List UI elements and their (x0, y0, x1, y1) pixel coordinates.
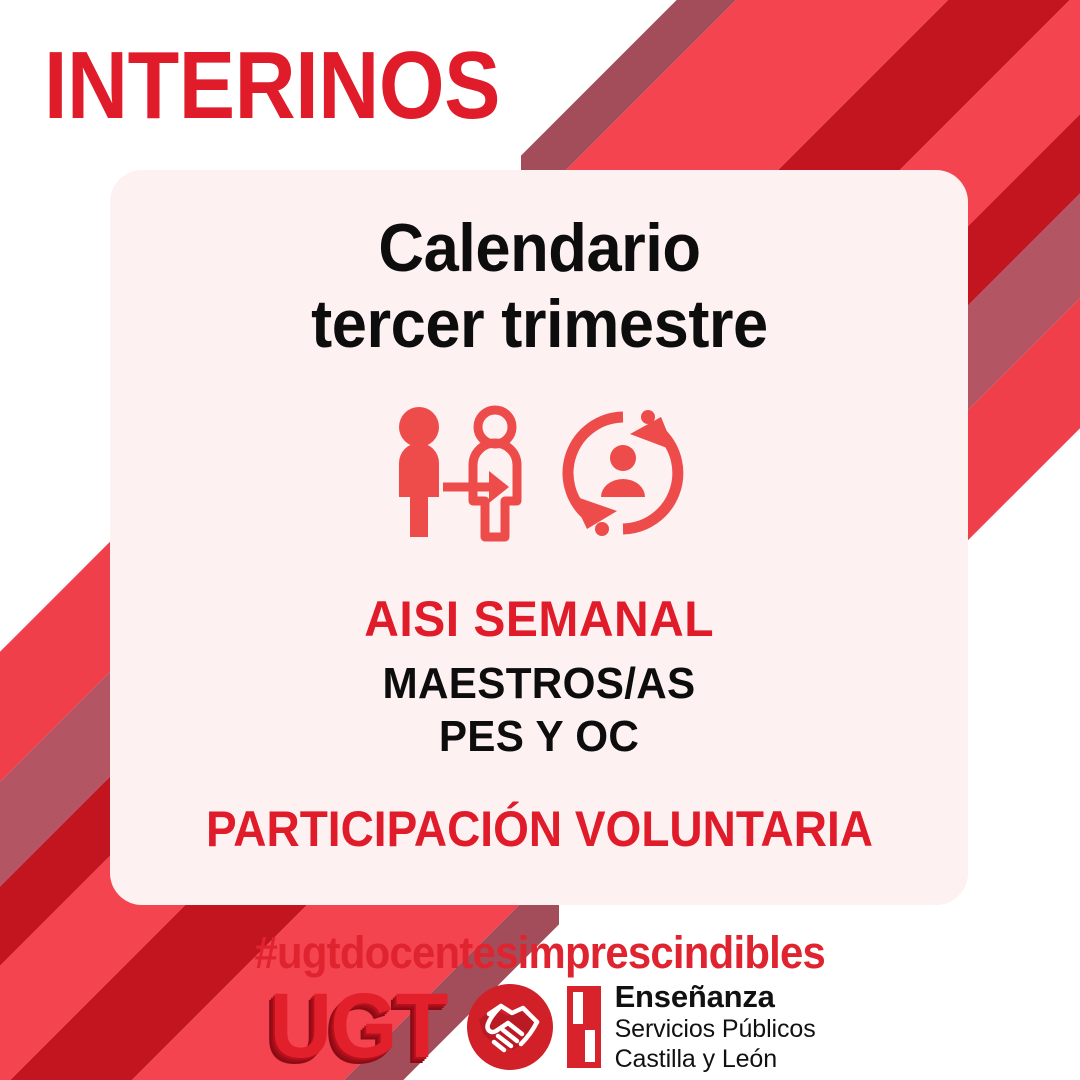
card-title-line-2: tercer trimestre (311, 286, 768, 362)
card-title: Calendario tercer trimestre (311, 210, 768, 362)
hashtag-label: #ugtdocentesimprescindibles (255, 930, 826, 975)
castilla-leon-flag-icon (567, 986, 601, 1068)
page-title: INTERINOS (44, 38, 500, 134)
cuerpos-line-1: MAESTROS/AS (383, 658, 696, 711)
logo-row: UGT Enseñanza Servicios (264, 979, 815, 1074)
content-card: Calendario tercer trimestre (110, 170, 968, 905)
org-title: Enseñanza (615, 979, 816, 1015)
org-subtitle-2: Castilla y León (615, 1045, 816, 1075)
participation-label: PARTICIPACIÓN VOLUNTARIA (205, 800, 872, 858)
footer: #ugtdocentesimprescindibles UGT (0, 930, 1080, 1074)
cuerpos-line-2: PES Y OC (383, 711, 696, 764)
org-subtitle-1: Servicios Públicos (615, 1015, 816, 1045)
cuerpos-list: MAESTROS/AS PES Y OC (383, 658, 696, 764)
poster-canvas: INTERINOS Calendario tercer trimestre (0, 0, 1080, 1080)
icon-group (385, 398, 693, 548)
handshake-icon (467, 984, 553, 1070)
person-transfer-icon (385, 403, 535, 543)
aisi-label: AISI SEMANAL (364, 590, 714, 648)
person-rotation-icon (553, 403, 693, 543)
ugt-wordmark: UGT (270, 986, 447, 1067)
card-title-line-1: Calendario (311, 210, 768, 286)
org-name-block: Enseñanza Servicios Públicos Castilla y … (615, 979, 816, 1074)
